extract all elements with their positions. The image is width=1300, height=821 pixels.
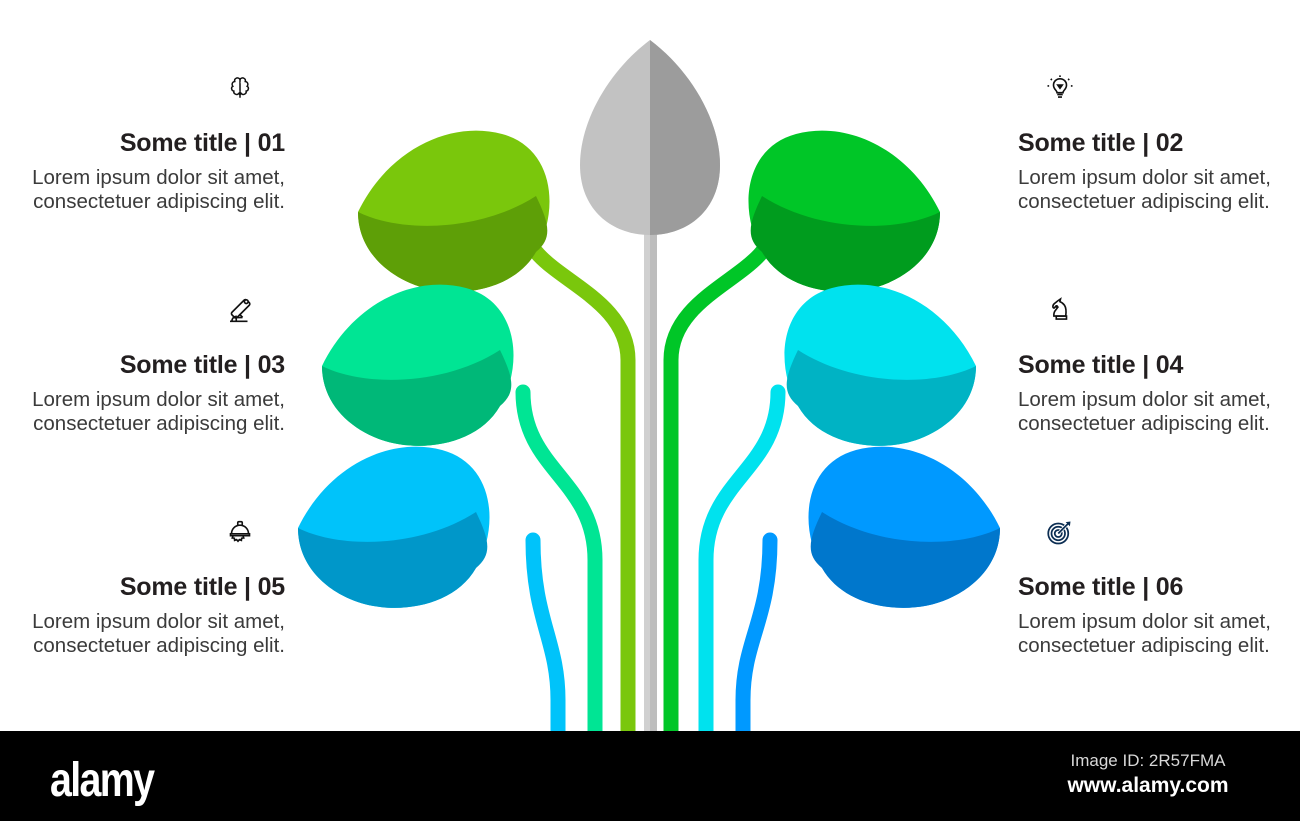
item-03-title: Some title | 03 (25, 352, 285, 380)
alamy-logo: alamy (50, 753, 153, 808)
stem-01 (525, 225, 628, 731)
item-02: Some title | 02 Lorem ipsum dolor sit am… (1018, 130, 1278, 214)
leaf-01 (358, 131, 550, 292)
item-01-description: Lorem ipsum dolor sit amet, consectetuer… (25, 166, 285, 214)
item-01: Some title | 01 Lorem ipsum dolor sit am… (25, 130, 285, 214)
item-01-title: Some title | 01 (25, 130, 285, 158)
item-05-description: Lorem ipsum dolor sit amet, consectetuer… (25, 610, 285, 658)
badge-02[interactable] (1035, 63, 1085, 113)
item-06: Some title | 06 Lorem ipsum dolor sit am… (1018, 574, 1278, 658)
item-04-title: Some title | 04 (1018, 352, 1278, 380)
badge-06[interactable] (1035, 507, 1085, 557)
item-05: Some title | 05 Lorem ipsum dolor sit am… (25, 574, 285, 658)
infographic-artboard: Some title | 01 Lorem ipsum dolor sit am… (0, 0, 1300, 731)
center-leaf (580, 40, 720, 235)
badge-05[interactable] (215, 507, 265, 557)
leaf-02 (748, 131, 940, 292)
center-stem-highlight (644, 200, 650, 731)
badge-03[interactable] (215, 285, 265, 335)
leaf-05 (298, 447, 490, 608)
item-04-description: Lorem ipsum dolor sit amet, consectetuer… (1018, 388, 1278, 436)
badge-01[interactable] (215, 63, 265, 113)
alamy-url: www.alamy.com (1018, 774, 1278, 798)
badge-04[interactable] (1035, 285, 1085, 335)
image-id-label: Image ID: 2R57FMA (1018, 751, 1278, 771)
leaf-06 (808, 447, 1000, 608)
tree-graphic (270, 0, 1030, 731)
target-arrow-icon (1045, 517, 1075, 547)
item-03: Some title | 03 Lorem ipsum dolor sit am… (25, 352, 285, 436)
item-05-title: Some title | 05 (25, 574, 285, 602)
leaf-04 (784, 285, 976, 446)
item-04: Some title | 04 Lorem ipsum dolor sit am… (1018, 352, 1278, 436)
watermark-info: Image ID: 2R57FMA www.alamy.com (1018, 751, 1278, 798)
brain-icon (225, 73, 255, 103)
item-06-title: Some title | 06 (1018, 574, 1278, 602)
item-02-description: Lorem ipsum dolor sit amet, consectetuer… (1018, 166, 1278, 214)
item-06-description: Lorem ipsum dolor sit amet, consectetuer… (1018, 610, 1278, 658)
item-03-description: Lorem ipsum dolor sit amet, consectetuer… (25, 388, 285, 436)
chess-knight-icon (1045, 295, 1075, 325)
stem-02 (671, 225, 773, 731)
stem-06 (743, 540, 770, 731)
item-02-title: Some title | 02 (1018, 130, 1278, 158)
stem-05 (533, 540, 558, 731)
screenshot-canvas: Some title | 01 Lorem ipsum dolor sit am… (0, 0, 1300, 821)
leaf-03 (322, 285, 514, 446)
alamy-watermark-bar: alamy Image ID: 2R57FMA www.alamy.com (0, 731, 1300, 821)
microscope-icon (225, 295, 255, 325)
lightbulb-icon (1045, 73, 1075, 103)
helmet-gear-icon (225, 517, 255, 547)
